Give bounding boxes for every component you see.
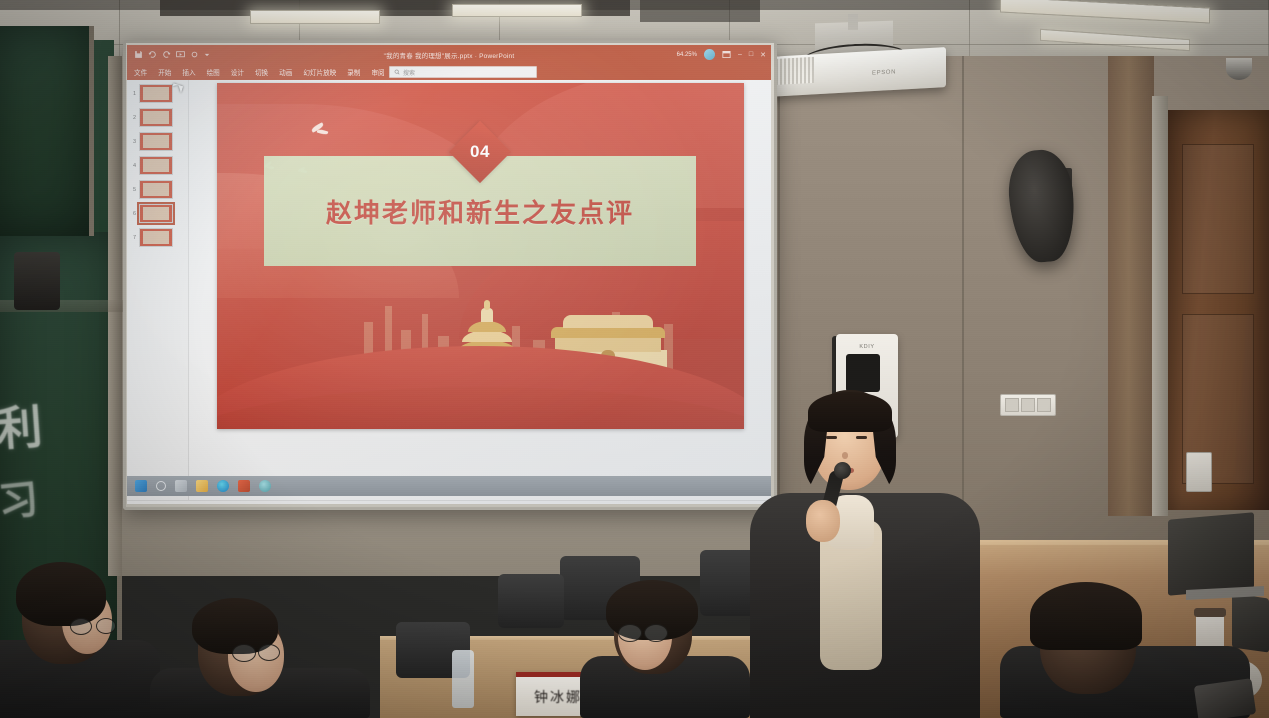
close-button[interactable]: ✕ [760, 51, 768, 59]
audience-cap [1030, 582, 1142, 650]
thumbnail-item[interactable]: 7 [129, 228, 186, 247]
wall-switch-plate[interactable] [1186, 452, 1212, 492]
presenter-nose [842, 452, 848, 459]
tab-transitions[interactable]: 切换 [254, 66, 269, 78]
powerpoint-body: 1 2 3 4 5 [127, 80, 771, 500]
eyeglasses [618, 624, 642, 642]
ribbon-display-options-icon[interactable] [722, 50, 731, 59]
chalkboard-top-section [0, 26, 94, 236]
microphone-head [834, 462, 851, 479]
tab-insert[interactable]: 插入 [181, 66, 196, 78]
name-tent-text: 钟冰娜 [534, 687, 582, 707]
thumbnail-number: 4 [129, 163, 136, 169]
file-explorer-icon[interactable] [196, 480, 208, 492]
chalk-character: 习 [0, 466, 41, 528]
projector-arm [848, 14, 858, 30]
outlet-socket [1021, 398, 1035, 412]
projector-vents [772, 57, 814, 85]
wall-outlet[interactable] [1000, 394, 1056, 416]
search-placeholder: 搜索 [403, 68, 415, 77]
thumbnail-number: 3 [129, 139, 136, 145]
presenter-hand [806, 500, 840, 542]
board-frame [108, 56, 122, 576]
wall-device-screen [846, 354, 880, 392]
tab-slideshow[interactable]: 幻灯片放映 [302, 66, 337, 78]
water-bottle [452, 650, 474, 708]
door-panel [1182, 144, 1254, 294]
laptop[interactable] [1168, 512, 1254, 596]
minimize-button[interactable]: – [738, 51, 742, 58]
search-icon [394, 69, 400, 75]
thumbnail-number: 6 [129, 211, 136, 217]
edge-icon[interactable] [217, 480, 229, 492]
titlebar-zoom-label: 64.25% [677, 52, 697, 58]
current-slide[interactable]: 赵坤老师和新生之友点评 04 [217, 83, 744, 429]
wall-mounted-box [14, 252, 60, 310]
projection-screen[interactable]: "我的青春 我的理想"展示.pptx · PowerPoint 64.25% –… [127, 45, 771, 504]
wall-wood-column [1108, 56, 1154, 516]
chalk-character: 利 [0, 390, 44, 459]
section-number-text: 04 [470, 142, 490, 162]
powerpoint-icon[interactable] [238, 480, 250, 492]
tab-design[interactable]: 设计 [230, 66, 245, 78]
language-indicator[interactable]: 中文(中国) [192, 503, 218, 505]
search-box[interactable]: 搜索 [389, 66, 537, 78]
thumbnail-preview[interactable] [139, 204, 173, 223]
account-avatar[interactable] [704, 49, 715, 60]
door-frame [1152, 96, 1168, 516]
task-view-icon[interactable] [175, 480, 187, 492]
powerpoint-status-bar: 幻灯片第 6 张,共 7 张 中文(中国) 使幻灯片适应当前窗口 [127, 500, 771, 504]
tab-draw[interactable]: 绘图 [206, 66, 221, 78]
presenter-eye [826, 436, 837, 439]
audience-hair [16, 562, 106, 626]
wall-seam [962, 56, 964, 526]
restore-button[interactable]: □ [749, 51, 753, 58]
presenter-eye [856, 436, 867, 439]
document-title: "我的青春 我的理想"展示.pptx · PowerPoint [127, 50, 771, 60]
slide-counter: 幻灯片第 6 张,共 7 张 [132, 503, 184, 505]
ceiling-light [250, 10, 380, 24]
windows-taskbar[interactable] [127, 476, 771, 496]
laptop[interactable] [1232, 593, 1269, 652]
thumbnail-number: 7 [129, 235, 136, 241]
powerpoint-title-bar: "我的青春 我的理想"展示.pptx · PowerPoint 64.25% –… [127, 45, 771, 64]
search-icon[interactable] [156, 481, 166, 491]
slide-title: 赵坤老师和新生之友点评 [326, 193, 634, 230]
thumbnail-item[interactable]: 5 [129, 180, 186, 199]
thumbnail-item[interactable]: 3 [129, 132, 186, 151]
thumbnail-preview[interactable] [139, 180, 173, 199]
thumbnail-preview[interactable] [139, 84, 173, 103]
outlet-socket [1005, 398, 1019, 412]
eyeglasses [70, 618, 92, 635]
tab-review[interactable]: 审阅 [370, 66, 385, 78]
powerpoint-window[interactable]: "我的青春 我的理想"展示.pptx · PowerPoint 64.25% –… [127, 45, 771, 504]
outlet-socket [1037, 398, 1051, 412]
window-controls[interactable]: 64.25% – □ ✕ [677, 45, 768, 64]
app-icon[interactable] [259, 480, 271, 492]
eyeglasses [232, 644, 256, 662]
chair [498, 574, 564, 628]
wall-device-brand-label: KDIY [836, 344, 898, 350]
presenter-bangs [808, 392, 892, 432]
thumbnail-item-selected[interactable]: 6 [129, 204, 186, 223]
thumbnail-item[interactable]: 4 [129, 156, 186, 175]
start-icon[interactable] [135, 480, 147, 492]
thumbnail-number: 1 [129, 91, 136, 97]
classroom-photo-scene: EPSON KDIY 利 习 [0, 0, 1269, 718]
thumbnail-number: 5 [129, 187, 136, 193]
ribbon-tab-bar[interactable]: 文件 开始 插入 绘图 设计 切换 动画 幻灯片放映 录制 审阅 视图 帮助 搜… [127, 64, 771, 80]
thumbnail-number: 2 [129, 115, 136, 121]
cup-lid [1194, 608, 1226, 617]
eyeglasses [258, 644, 280, 661]
ceiling-camera [1226, 58, 1252, 80]
tab-record[interactable]: 录制 [346, 66, 361, 78]
tablet-device[interactable] [1194, 678, 1256, 718]
eyeglasses [96, 618, 116, 634]
tab-file[interactable]: 文件 [133, 66, 148, 78]
tab-animations[interactable]: 动画 [278, 66, 293, 78]
slide-thumbnail-pane[interactable]: 1 2 3 4 5 [127, 80, 189, 500]
thumbnail-preview[interactable] [139, 156, 173, 175]
slide-editor-area[interactable]: 赵坤老师和新生之友点评 04 [189, 80, 771, 500]
thumbnail-preview[interactable] [139, 132, 173, 151]
door [1168, 110, 1269, 510]
ceiling-light [452, 4, 582, 17]
thumbnail-item[interactable]: 2 [129, 108, 186, 127]
thumbnail-preview[interactable] [139, 228, 173, 247]
ceiling-beam [640, 0, 760, 22]
tab-home[interactable]: 开始 [157, 66, 172, 78]
eyeglasses [644, 624, 668, 642]
thumbnail-preview[interactable] [139, 108, 173, 127]
